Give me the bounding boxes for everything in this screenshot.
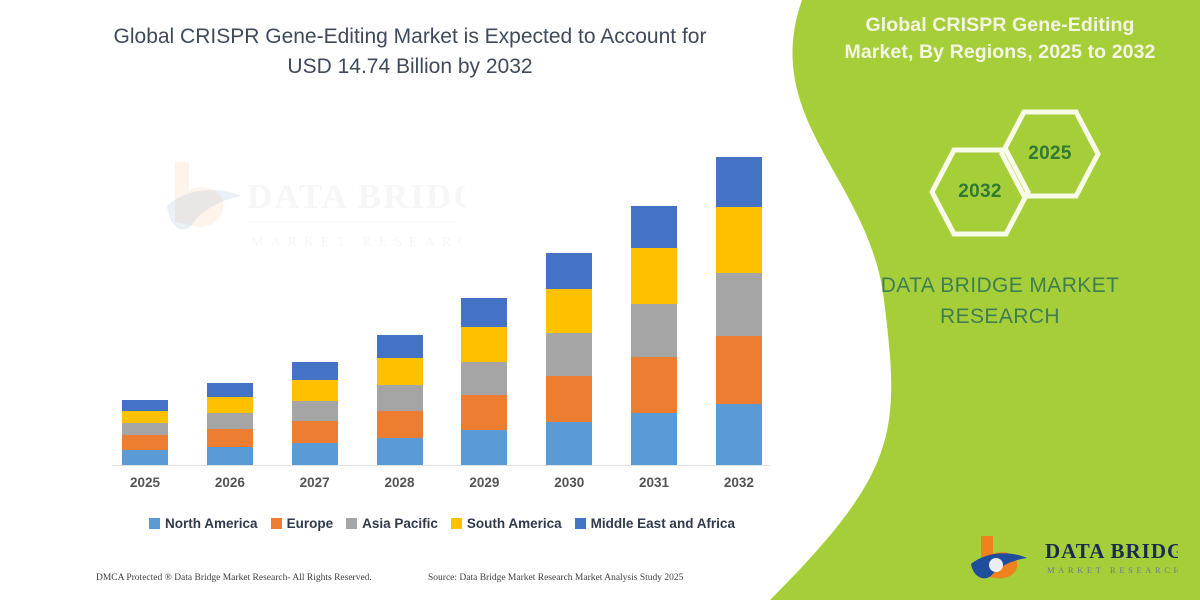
bar-segment xyxy=(716,207,762,273)
x-axis-tick-label: 2031 xyxy=(631,475,677,495)
bar-column xyxy=(207,383,253,466)
bar-segment xyxy=(546,422,592,466)
bar-column xyxy=(631,206,677,466)
legend-label: Middle East and Africa xyxy=(591,516,735,531)
bar-segment xyxy=(631,357,677,413)
bar-segment xyxy=(292,443,338,466)
bar-segment xyxy=(207,447,253,466)
chart-title: Global CRISPR Gene-Editing Market is Exp… xyxy=(60,22,760,82)
panel-brand-line-2: RESEARCH xyxy=(800,301,1200,332)
bar-segment xyxy=(716,336,762,404)
bar-segment xyxy=(292,401,338,421)
bar-segment xyxy=(546,333,592,376)
green-panel-content: Global CRISPR Gene-Editing Market, By Re… xyxy=(800,0,1200,600)
bar-segment xyxy=(377,438,423,466)
legend-item[interactable]: Middle East and Africa xyxy=(575,516,735,531)
chart-title-line-2: USD 14.74 Billion by 2032 xyxy=(60,52,760,82)
bar-segment xyxy=(546,289,592,333)
bar-column xyxy=(546,253,592,466)
bar-segment xyxy=(377,385,423,411)
footer-copyright: DMCA Protected ® Data Bridge Market Rese… xyxy=(96,573,372,583)
legend-swatch-icon xyxy=(149,518,160,529)
bar-segment xyxy=(716,273,762,336)
data-bridge-logo-icon: DATA BRIDGE MARKET RESEARCH xyxy=(963,530,1178,588)
bar-segment xyxy=(461,327,507,362)
legend-item[interactable]: North America xyxy=(149,516,258,531)
bar-segment xyxy=(631,248,677,304)
bar-segment xyxy=(207,413,253,429)
hexagon-start-year-label: 2025 xyxy=(998,108,1102,200)
bar-segment xyxy=(207,429,253,447)
bar-column xyxy=(461,298,507,466)
legend-label: Asia Pacific xyxy=(362,516,438,531)
x-axis-labels: 20252026202720282029203020312032 xyxy=(112,475,772,495)
panel-title-line-1: Global CRISPR Gene-Editing xyxy=(800,12,1200,39)
legend-label: Europe xyxy=(287,516,334,531)
bar-segment xyxy=(716,157,762,207)
bar-segment xyxy=(122,411,168,423)
infographic-canvas: Global CRISPR Gene-Editing Market, By Re… xyxy=(0,0,1200,600)
hexagon-start-year: 2025 xyxy=(998,108,1102,200)
bar-segment xyxy=(461,362,507,395)
bar-column xyxy=(292,362,338,466)
bar-segment xyxy=(292,362,338,380)
bar-column xyxy=(122,400,168,466)
x-axis-tick-label: 2027 xyxy=(292,475,338,495)
panel-brand-text: DATA BRIDGE MARKET RESEARCH xyxy=(800,270,1200,332)
bar-column xyxy=(377,335,423,466)
hexagon-group: 2032 2025 xyxy=(800,108,1200,228)
bar-segment xyxy=(461,430,507,466)
x-axis-tick-label: 2025 xyxy=(122,475,168,495)
bar-segment xyxy=(377,335,423,358)
x-axis-line xyxy=(112,465,770,466)
bar-segment xyxy=(546,376,592,422)
legend-swatch-icon xyxy=(271,518,282,529)
company-logo: DATA BRIDGE MARKET RESEARCH xyxy=(963,530,1178,588)
x-axis-tick-label: 2026 xyxy=(207,475,253,495)
legend-swatch-icon xyxy=(451,518,462,529)
bar-segment xyxy=(631,304,677,357)
x-axis-tick-label: 2029 xyxy=(461,475,507,495)
bar-segment xyxy=(716,404,762,466)
x-axis-tick-label: 2030 xyxy=(546,475,592,495)
bar-segment xyxy=(461,298,507,327)
bar-segment xyxy=(292,380,338,401)
x-axis-tick-label: 2028 xyxy=(377,475,423,495)
bar-segment xyxy=(207,383,253,397)
panel-title-line-2: Market, By Regions, 2025 to 2032 xyxy=(800,39,1200,66)
footer-source: Source: Data Bridge Market Research Mark… xyxy=(428,573,683,583)
legend-label: South America xyxy=(467,516,562,531)
legend-item[interactable]: Europe xyxy=(271,516,334,531)
svg-text:DATA BRIDGE: DATA BRIDGE xyxy=(1045,539,1178,563)
bar-segment xyxy=(546,253,592,289)
bar-segment xyxy=(461,395,507,430)
legend-swatch-icon xyxy=(575,518,586,529)
bar-segment xyxy=(631,413,677,466)
chart-legend: North AmericaEuropeAsia PacificSouth Ame… xyxy=(112,512,772,534)
bar-segment xyxy=(122,435,168,450)
chart-title-line-1: Global CRISPR Gene-Editing Market is Exp… xyxy=(60,22,760,52)
bar-segment xyxy=(292,421,338,443)
x-axis-tick-label: 2032 xyxy=(716,475,762,495)
legend-item[interactable]: South America xyxy=(451,516,562,531)
svg-text:MARKET RESEARCH: MARKET RESEARCH xyxy=(1047,565,1178,575)
bar-segment xyxy=(122,423,168,435)
bar-segment xyxy=(207,397,253,413)
bar-segment xyxy=(377,411,423,438)
legend-swatch-icon xyxy=(346,518,357,529)
bar-segment xyxy=(631,206,677,248)
footer: DMCA Protected ® Data Bridge Market Rese… xyxy=(0,568,790,588)
bar-segment xyxy=(377,358,423,385)
bar-series-container xyxy=(112,120,772,466)
stacked-bar-chart xyxy=(112,120,772,466)
bar-segment xyxy=(122,450,168,466)
panel-title: Global CRISPR Gene-Editing Market, By Re… xyxy=(800,12,1200,66)
legend-item[interactable]: Asia Pacific xyxy=(346,516,438,531)
legend-label: North America xyxy=(165,516,258,531)
bar-segment xyxy=(122,400,168,411)
bar-column xyxy=(716,157,762,466)
panel-brand-line-1: DATA BRIDGE MARKET xyxy=(800,270,1200,301)
